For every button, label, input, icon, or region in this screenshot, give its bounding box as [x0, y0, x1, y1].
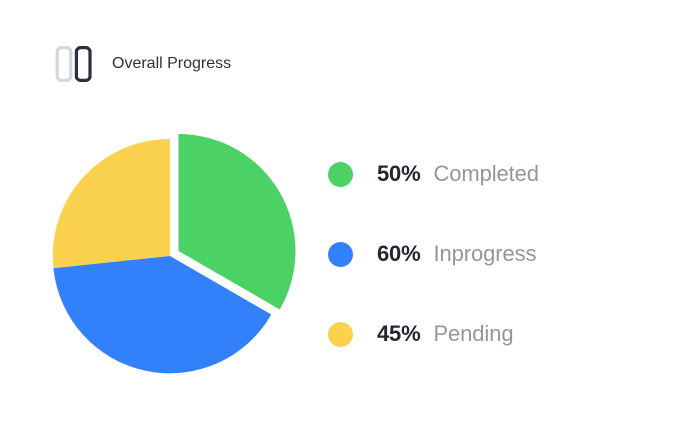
pie-slice-pending[interactable]	[53, 139, 170, 268]
legend-item-inprogress[interactable]: 60% Inprogress	[328, 230, 658, 278]
card-header: Overall Progress	[54, 44, 231, 84]
legend-label-completed: Completed	[433, 161, 539, 187]
panel-layout-icon	[54, 44, 94, 84]
legend-percent-pending: 45%	[377, 321, 420, 347]
legend-dot-completed	[328, 162, 353, 187]
overall-progress-card: Overall Progress 50% Completed 60% Inpro…	[0, 0, 692, 428]
page-title: Overall Progress	[112, 55, 231, 73]
legend-label-inprogress: Inprogress	[433, 241, 536, 267]
pie-chart	[30, 115, 320, 400]
legend-dot-inprogress	[328, 242, 353, 267]
legend-dot-pending	[328, 322, 353, 347]
legend-percent-completed: 50%	[377, 161, 420, 187]
chart-legend: 50% Completed 60% Inprogress 45% Pending	[328, 150, 658, 358]
legend-percent-inprogress: 60%	[377, 241, 420, 267]
legend-label-pending: Pending	[433, 321, 513, 347]
legend-item-completed[interactable]: 50% Completed	[328, 150, 658, 198]
legend-item-pending[interactable]: 45% Pending	[328, 310, 658, 358]
